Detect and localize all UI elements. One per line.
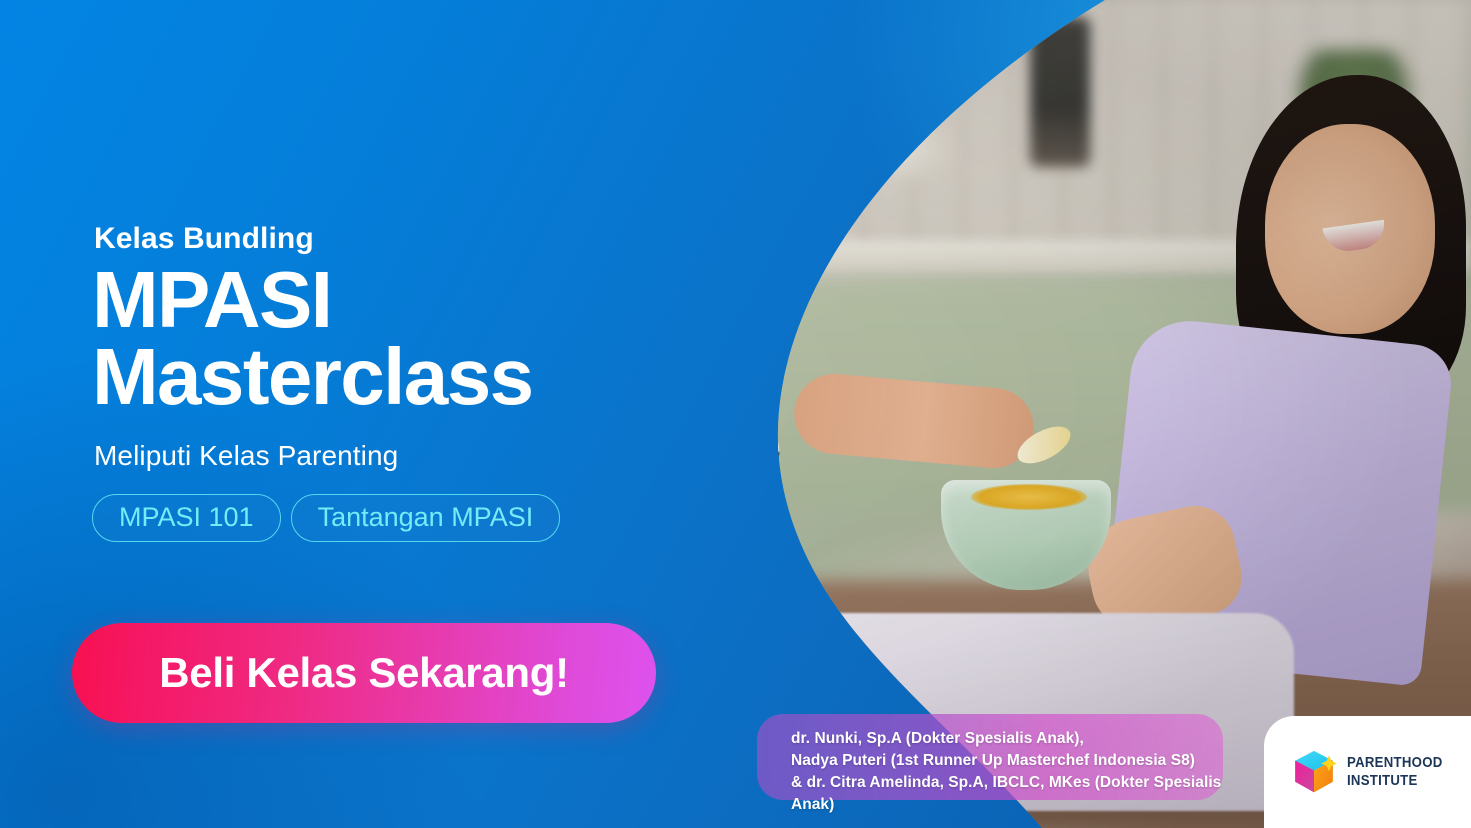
speakers-credit-banner: dr. Nunki, Sp.A (Dokter Spesialis Anak),… (757, 714, 1223, 800)
pill-mpasi-101[interactable]: MPASI 101 (92, 494, 281, 542)
eyebrow-label: Kelas Bundling (94, 222, 732, 256)
credit-line-2: Nadya Puteri (1st Runner Up Masterchef I… (791, 750, 1223, 772)
feature-pill-row: MPASI 101 Tantangan MPASI (92, 494, 732, 542)
brand-name-line-2: INSTITUTE (1347, 772, 1443, 790)
page-title: MPASI Masterclass (92, 262, 732, 416)
brand-name-line-1: PARENTHOOD (1347, 754, 1443, 772)
pill-tantangan-mpasi[interactable]: Tantangan MPASI (291, 494, 561, 542)
credit-line-3: & dr. Citra Amelinda, Sp.A, IBCLC, MKes … (791, 772, 1223, 816)
buy-class-button[interactable]: Beli Kelas Sekarang! (72, 623, 656, 723)
headline-block: Kelas Bundling MPASI Masterclass Meliput… (92, 222, 732, 542)
credit-line-1: dr. Nunki, Sp.A (Dokter Spesialis Anak), (791, 728, 1223, 750)
subheadline: Meliputi Kelas Parenting (94, 440, 732, 472)
headline-line-1: MPASI (92, 262, 732, 339)
brand-name: PARENTHOOD INSTITUTE (1347, 754, 1443, 789)
headline-line-2: Masterclass (92, 339, 732, 416)
brand-logo-card[interactable]: PARENTHOOD INSTITUTE (1264, 716, 1471, 828)
promo-banner: Kelas Bundling MPASI Masterclass Meliput… (0, 0, 1471, 828)
isometric-cube-icon (1290, 748, 1338, 796)
